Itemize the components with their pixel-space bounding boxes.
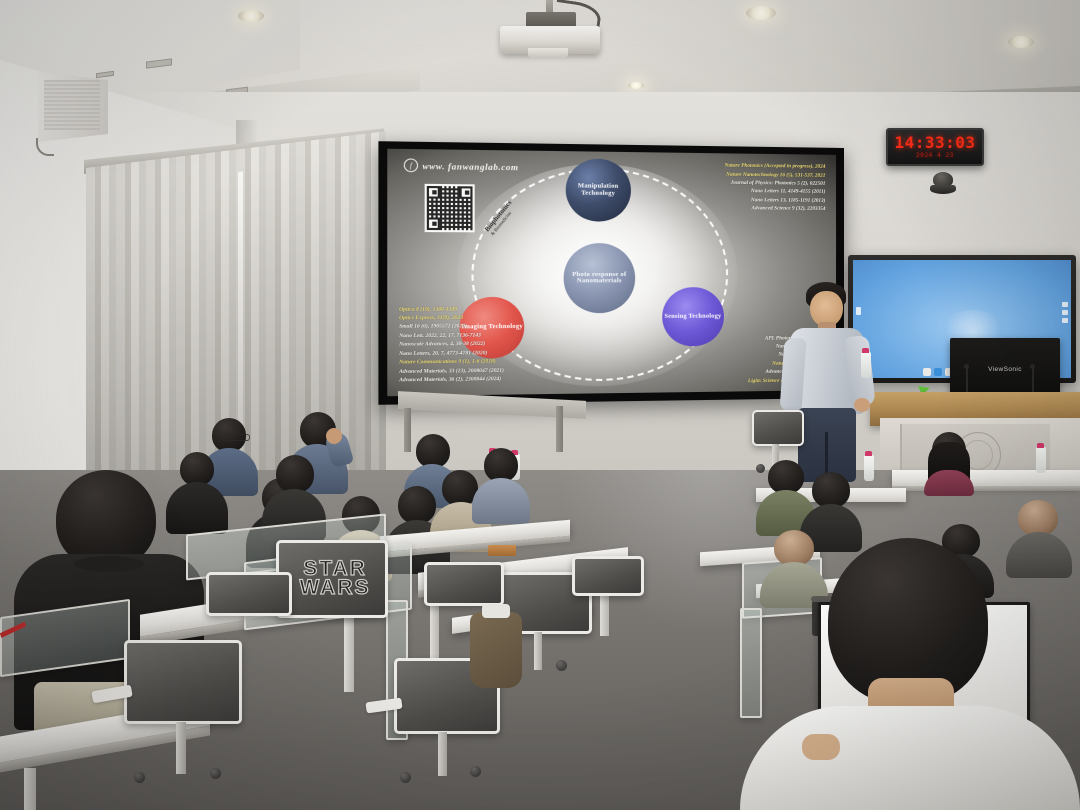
desk	[892, 470, 1080, 486]
slide-references-bottom-left: Optica 8 (10), 1340-1349 Optics Express,…	[399, 305, 504, 385]
chair-wheel	[400, 772, 411, 783]
reference-line: Advanced Materials, 36 (2), 2308844 (202…	[399, 375, 504, 385]
chair-back[interactable]	[206, 572, 292, 616]
chair-back[interactable]	[752, 410, 804, 446]
clock-time: 14:33:03	[894, 135, 975, 151]
desk-edge	[892, 486, 1080, 491]
bottle-cap	[865, 451, 872, 456]
slide-references-top-right: Nature Photonics (Accepted in progress),…	[725, 162, 826, 214]
bottle-cap	[1037, 443, 1044, 448]
water-bottle[interactable]	[864, 455, 874, 481]
person-collar	[74, 556, 144, 572]
ceiling-downlight	[1008, 36, 1034, 48]
bottle-cap	[862, 348, 869, 353]
desk-item-wallet[interactable]	[488, 545, 516, 556]
reference-line: Advanced Science 9 (32), 2203354	[725, 204, 826, 213]
audience-member	[472, 448, 530, 518]
presenter-hand	[854, 398, 870, 412]
ceiling-downlight	[238, 10, 264, 22]
star-wars-print: STAR WARS	[287, 557, 383, 601]
person-head	[484, 448, 518, 482]
person-torso	[472, 478, 530, 524]
eyeglasses-icon	[226, 434, 250, 441]
chair-back[interactable]	[424, 562, 504, 606]
ceiling-projector	[500, 8, 600, 54]
person-head	[416, 434, 450, 468]
backpack-strap	[482, 604, 510, 618]
chair-wheel	[556, 660, 567, 671]
chair-post	[534, 632, 542, 670]
chair-back[interactable]	[124, 640, 242, 724]
star-wars-line2: WARS	[300, 579, 371, 598]
ceiling-downlight	[628, 82, 644, 89]
chair-post	[176, 722, 186, 774]
microphone-head-icon	[1030, 364, 1035, 369]
water-bottle[interactable]	[1036, 447, 1046, 473]
chair-wheel	[210, 768, 221, 779]
person-head	[812, 472, 850, 508]
backpack[interactable]	[470, 612, 522, 688]
slide-bubble-manipulation: Manipulation Technology	[565, 158, 630, 221]
chair-back[interactable]	[572, 556, 644, 596]
person-shirt-white	[740, 706, 1080, 810]
clock-date: 2024 4 23	[916, 152, 954, 159]
microphone-head-icon	[964, 364, 969, 369]
chair-wheel	[470, 766, 481, 777]
water-bottle[interactable]	[861, 352, 871, 378]
desk-leg	[24, 768, 36, 810]
podium-microphone	[966, 368, 968, 394]
person-head	[276, 455, 314, 493]
person-head	[768, 460, 804, 494]
person-hand	[326, 428, 342, 444]
qr-code-icon	[425, 184, 475, 232]
camera-mount	[930, 185, 956, 194]
chair-post	[438, 732, 447, 776]
led-wall-clock: 14:33:03 2024 4 23	[886, 128, 984, 166]
slide-brand-row: f www. fanwanglab.com	[404, 159, 519, 174]
chair-back-star-wars[interactable]: STAR WARS	[276, 540, 388, 618]
ceiling-downlight	[746, 6, 776, 20]
audience-member-foreground-right	[740, 538, 1080, 810]
projection-screen-surface: f www. fanwanglab.com Manipulation Techn…	[387, 149, 836, 397]
person-hand	[802, 734, 840, 760]
chair-wheel	[134, 772, 145, 783]
desk-leg	[344, 606, 354, 692]
audience-member	[922, 432, 976, 490]
person-head	[1018, 500, 1058, 536]
lab-website-url: www. fanwanglab.com	[422, 161, 518, 173]
speaker-grill	[44, 80, 100, 130]
podium-microphone	[1032, 368, 1034, 392]
screen-support-post	[556, 406, 563, 452]
presenter	[770, 282, 880, 482]
slide-bubble-sensing: Sensing Technology	[662, 287, 724, 347]
monitor-brand-label: ViewSonic	[988, 366, 1022, 373]
wall-speaker	[38, 72, 108, 142]
display-side-toolbar[interactable]	[1062, 302, 1068, 323]
ptz-camera	[930, 172, 956, 196]
lab-logo-icon: f	[404, 159, 418, 173]
lecture-hall-photo: f www. fanwanglab.com Manipulation Techn…	[0, 0, 1080, 810]
projector-lens	[528, 48, 568, 58]
